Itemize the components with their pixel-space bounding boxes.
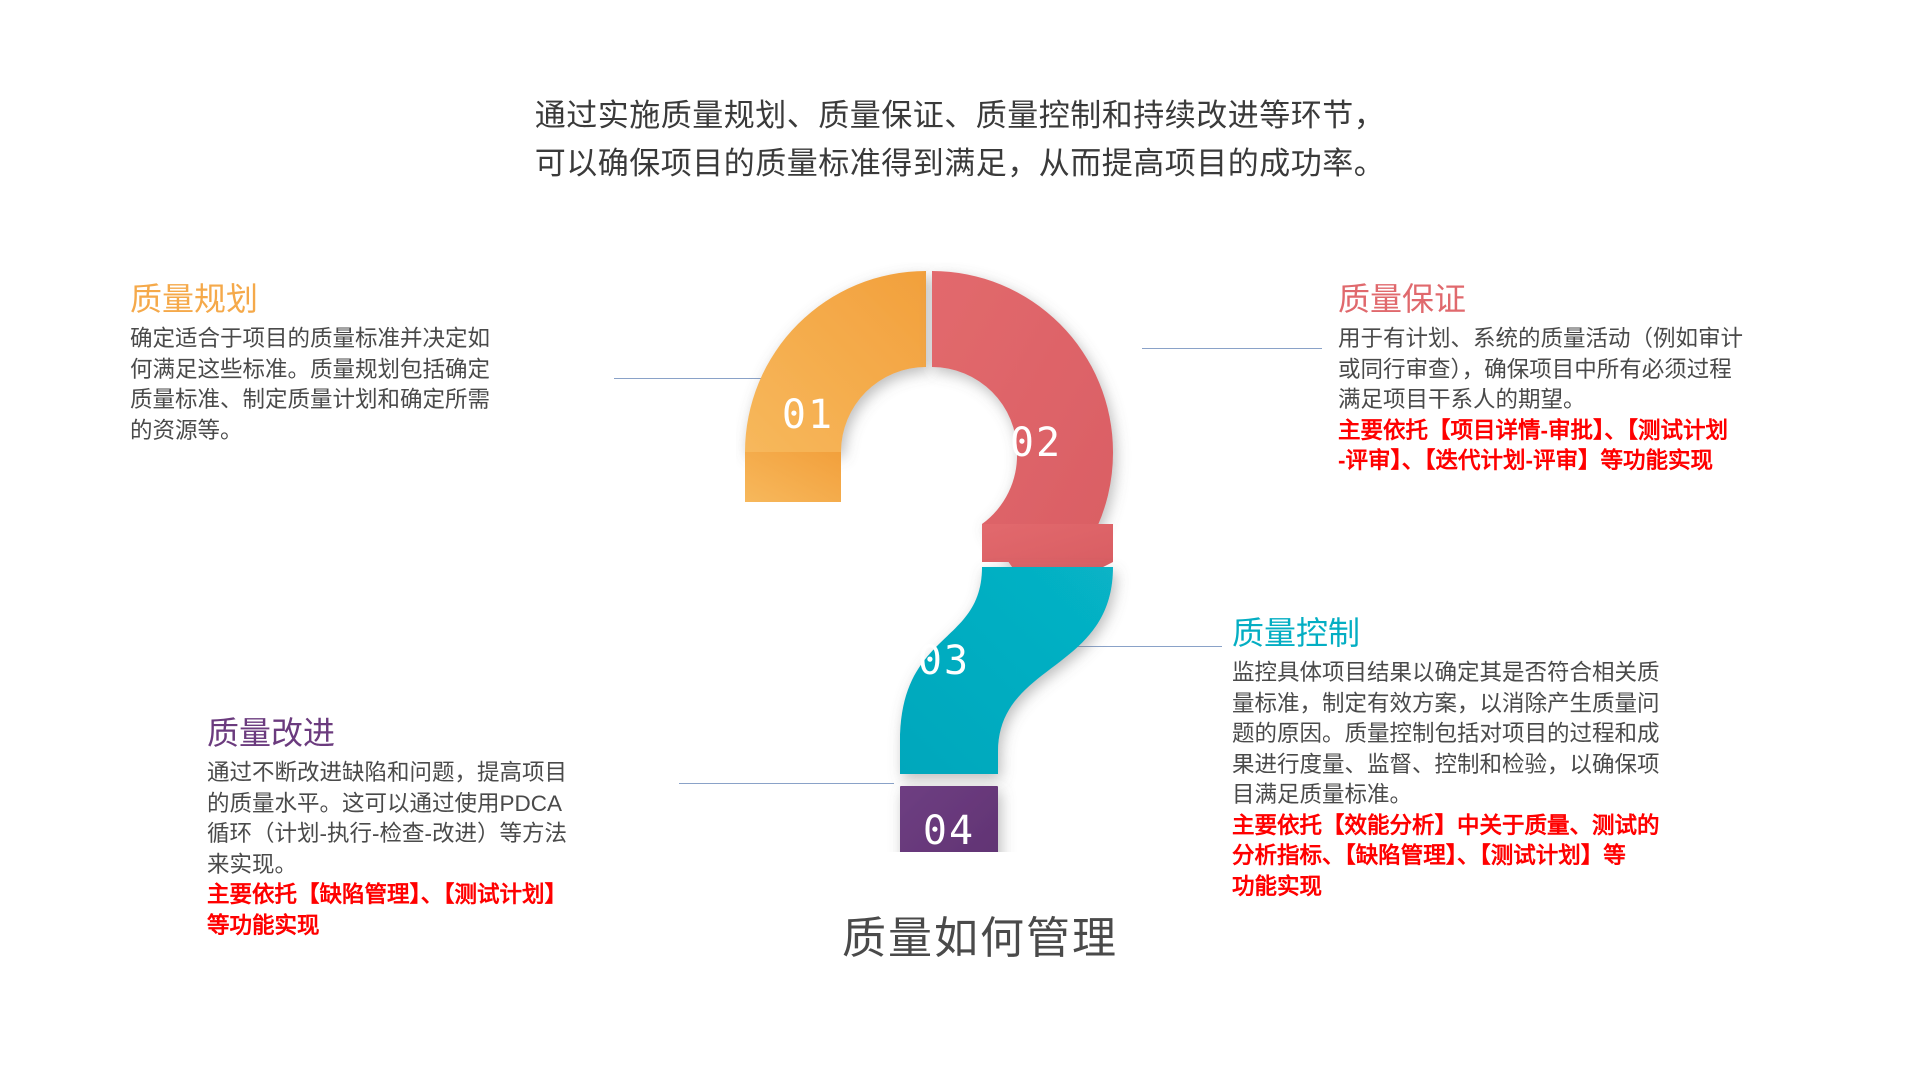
- step-note-04: 主要依托【缺陷管理】、【测试计划】 等功能实现: [207, 880, 677, 941]
- step-title-02: 质量保证: [1338, 278, 1838, 320]
- segment-04[interactable]: 04: [900, 786, 998, 852]
- step-note-line: 分析指标、【缺陷管理】、【测试计划】等: [1232, 841, 1792, 872]
- segment-number-02: 02: [1010, 420, 1062, 466]
- step-note-03: 主要依托【效能分析】中关于质量、测试的 分析指标、【缺陷管理】、【测试计划】等 …: [1232, 811, 1792, 903]
- step-body-line: 何满足这些标准。质量规划包括确定: [130, 355, 600, 386]
- step-note-line: 主要依托【项目详情-审批】、【测试计划: [1338, 416, 1838, 447]
- step-body-01: 确定适合于项目的质量标准并决定如 何满足这些标准。质量规划包括确定 质量标准、制…: [130, 324, 600, 446]
- question-mark-diagram: 01 02 03 04: [736, 262, 1206, 852]
- step-body-line: 监控具体项目结果以确定其是否符合相关质: [1232, 658, 1792, 689]
- step-body-line: 确定适合于项目的质量标准并决定如: [130, 324, 600, 355]
- step-note-line: 等功能实现: [207, 911, 677, 942]
- step-note-line: -评审】、【迭代计划-评审】等功能实现: [1338, 446, 1838, 477]
- header-line-1: 通过实施质量规划、质量保证、质量控制和持续改进等环节，: [0, 92, 1920, 140]
- step-block-01: 质量规划 确定适合于项目的质量标准并决定如 何满足这些标准。质量规划包括确定 质…: [130, 278, 600, 446]
- step-body-line: 果进行度量、监督、控制和检验，以确保项: [1232, 750, 1792, 781]
- step-title-04: 质量改进: [207, 712, 677, 754]
- segment-number-03: 03: [918, 638, 970, 684]
- step-body-line: 满足项目干系人的期望。: [1338, 385, 1838, 416]
- step-note-line: 功能实现: [1232, 872, 1792, 903]
- step-body-line: 用于有计划、系统的质量活动（例如审计: [1338, 324, 1838, 355]
- step-title-03: 质量控制: [1232, 612, 1792, 654]
- step-body-02: 用于有计划、系统的质量活动（例如审计 或同行审查），确保项目中所有必须过程 满足…: [1338, 324, 1838, 416]
- segment-number-01: 01: [782, 392, 834, 438]
- step-note-line: 主要依托【效能分析】中关于质量、测试的: [1232, 811, 1792, 842]
- segment-01[interactable]: 01: [745, 271, 926, 502]
- step-block-03: 质量控制 监控具体项目结果以确定其是否符合相关质 量标准，制定有效方案，以消除产…: [1232, 612, 1792, 902]
- step-block-04: 质量改进 通过不断改进缺陷和问题，提高项目 的质量水平。这可以通过使用PDCA …: [207, 712, 677, 941]
- step-body-line: 通过不断改进缺陷和问题，提高项目: [207, 758, 677, 789]
- diagram-caption: 质量如何管理: [760, 902, 1200, 966]
- infographic-canvas: 通过实施质量规划、质量保证、质量控制和持续改进等环节， 可以确保项目的质量标准得…: [0, 0, 1920, 1080]
- step-title-01: 质量规划: [130, 278, 600, 320]
- header-line-2: 可以确保项目的质量标准得到满足，从而提高项目的成功率。: [0, 140, 1920, 188]
- step-body-line: 的资源等。: [130, 416, 600, 447]
- step-body-line: 量标准，制定有效方案，以消除产生质量问: [1232, 689, 1792, 720]
- step-note-line: 主要依托【缺陷管理】、【测试计划】: [207, 880, 677, 911]
- segment-03[interactable]: 03: [900, 567, 1113, 774]
- step-body-line: 质量标准、制定质量计划和确定所需: [130, 385, 600, 416]
- step-body-line: 循环（计划-执行-检查-改进）等方法: [207, 819, 677, 850]
- step-body-line: 来实现。: [207, 850, 677, 881]
- step-block-02: 质量保证 用于有计划、系统的质量活动（例如审计 或同行审查），确保项目中所有必须…: [1338, 278, 1838, 477]
- segment-number-04: 04: [923, 808, 975, 852]
- step-note-02: 主要依托【项目详情-审批】、【测试计划 -评审】、【迭代计划-评审】等功能实现: [1338, 416, 1838, 477]
- step-body-03: 监控具体项目结果以确定其是否符合相关质 量标准，制定有效方案，以消除产生质量问 …: [1232, 658, 1792, 811]
- page-title: 通过实施质量规划、质量保证、质量控制和持续改进等环节， 可以确保项目的质量标准得…: [0, 92, 1920, 188]
- step-body-line: 或同行审查），确保项目中所有必须过程: [1338, 355, 1838, 386]
- segment-02[interactable]: 02: [932, 271, 1113, 601]
- step-body-line: 目满足质量标准。: [1232, 780, 1792, 811]
- step-body-04: 通过不断改进缺陷和问题，提高项目 的质量水平。这可以通过使用PDCA 循环（计划…: [207, 758, 677, 880]
- step-body-line: 题的原因。质量控制包括对项目的过程和成: [1232, 719, 1792, 750]
- step-body-line: 的质量水平。这可以通过使用PDCA: [207, 789, 677, 820]
